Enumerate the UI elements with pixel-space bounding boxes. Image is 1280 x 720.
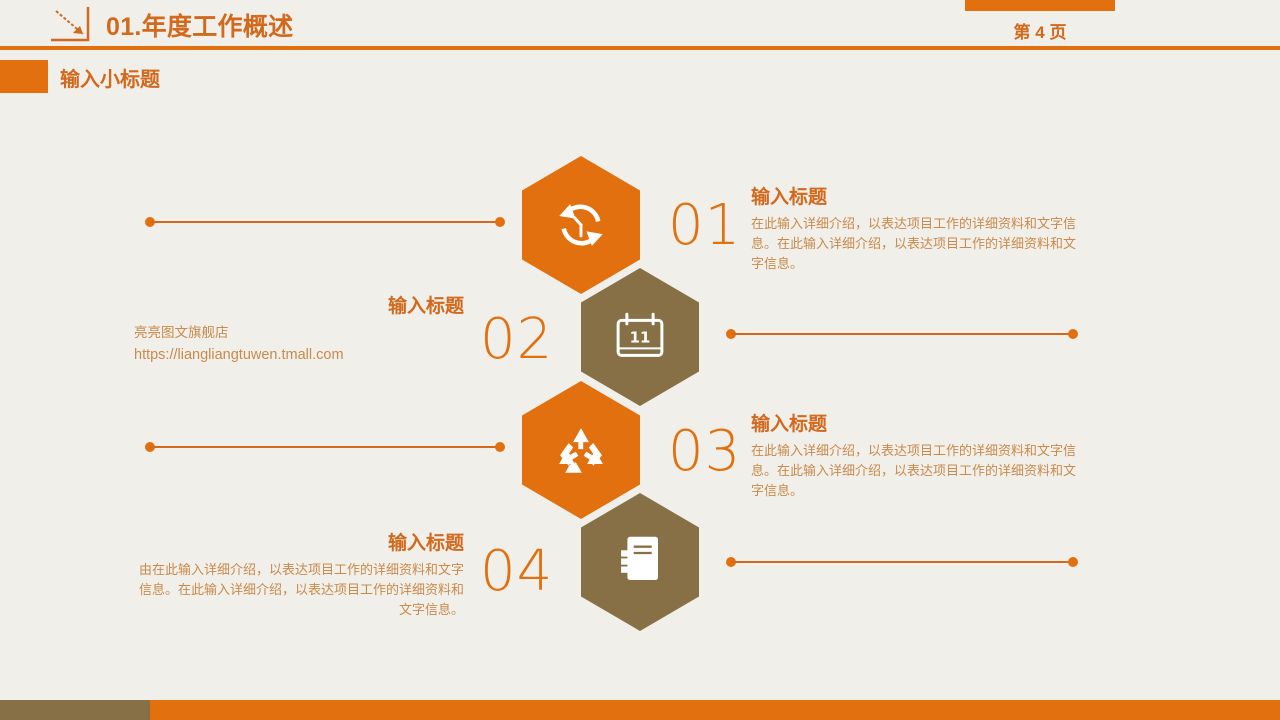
connector-dot-end: [495, 442, 505, 452]
page-title: 01.年度工作概述: [106, 7, 293, 43]
connector-line-01: [145, 217, 505, 227]
history-refresh-icon: [522, 156, 640, 294]
slide-header: 01.年度工作概述 第 4 页: [0, 0, 1280, 50]
hexagon-item-01[interactable]: [522, 156, 640, 294]
item-text-block-02: 输入标题 亮亮图文旗舰店 https://liangliangtuwen.tma…: [134, 291, 464, 366]
connector-line-04: [726, 557, 1078, 567]
connector-rule: [150, 221, 500, 223]
item-number-03: 03: [668, 424, 741, 480]
item-title-02: 输入标题: [134, 291, 464, 318]
item-body-04: 由在此输入详细介绍，以表达项目工作的详细资料和文字信息。在此输入详细介绍，以表达…: [134, 560, 464, 620]
footer-bar-orange: [150, 700, 1280, 720]
calendar-icon: 11: [581, 268, 699, 406]
item-number-01: 01: [668, 198, 741, 254]
item-body-03: 在此输入详细介绍，以表达项目工作的详细资料和文字信息。在此输入详细介绍，以表达项…: [751, 441, 1081, 501]
shop-name-label: 亮亮图文旗舰店: [134, 325, 229, 340]
page-number-label: 第 4 页: [965, 18, 1115, 43]
hexagon-item-03[interactable]: [522, 381, 640, 519]
item-body-02: 亮亮图文旗舰店 https://liangliangtuwen.tmall.co…: [134, 323, 464, 366]
connector-line-03: [145, 442, 505, 452]
connector-dot-end: [1068, 557, 1078, 567]
subtitle-accent-block: [0, 60, 48, 93]
connector-line-02: [726, 329, 1078, 339]
connector-rule: [731, 561, 1073, 563]
recycle-icon: [522, 381, 640, 519]
diagonal-arrow-corner-icon: [46, 6, 106, 44]
calendar-day-number: 11: [630, 328, 651, 346]
item-number-02: 02: [480, 312, 553, 368]
hexagon-item-04[interactable]: [581, 493, 699, 631]
item-body-01: 在此输入详细介绍，以表达项目工作的详细资料和文字信息。在此输入详细介绍，以表达项…: [751, 214, 1081, 274]
hexagon-item-02[interactable]: 11: [581, 268, 699, 406]
connector-rule: [150, 446, 500, 448]
footer-bar-brown: [0, 700, 150, 720]
subtitle-label: 输入小标题: [60, 63, 160, 92]
item-text-block-03: 输入标题 在此输入详细介绍，以表达项目工作的详细资料和文字信息。在此输入详细介绍…: [751, 409, 1081, 501]
item-title-01: 输入标题: [751, 182, 1081, 209]
shop-url-link[interactable]: https://liangliangtuwen.tmall.com: [134, 347, 344, 363]
connector-rule: [731, 333, 1073, 335]
connector-dot-end: [495, 217, 505, 227]
header-divider-rule: [0, 46, 1280, 50]
item-text-block-04: 输入标题 由在此输入详细介绍，以表达项目工作的详细资料和文字信息。在此输入详细介…: [134, 528, 464, 620]
header-accent-tab: [965, 0, 1115, 11]
notebook-icon: [581, 493, 699, 631]
item-title-03: 输入标题: [751, 409, 1081, 436]
item-title-04: 输入标题: [134, 528, 464, 555]
item-text-block-01: 输入标题 在此输入详细介绍，以表达项目工作的详细资料和文字信息。在此输入详细介绍…: [751, 182, 1081, 274]
item-number-04: 04: [480, 544, 553, 600]
connector-dot-end: [1068, 329, 1078, 339]
